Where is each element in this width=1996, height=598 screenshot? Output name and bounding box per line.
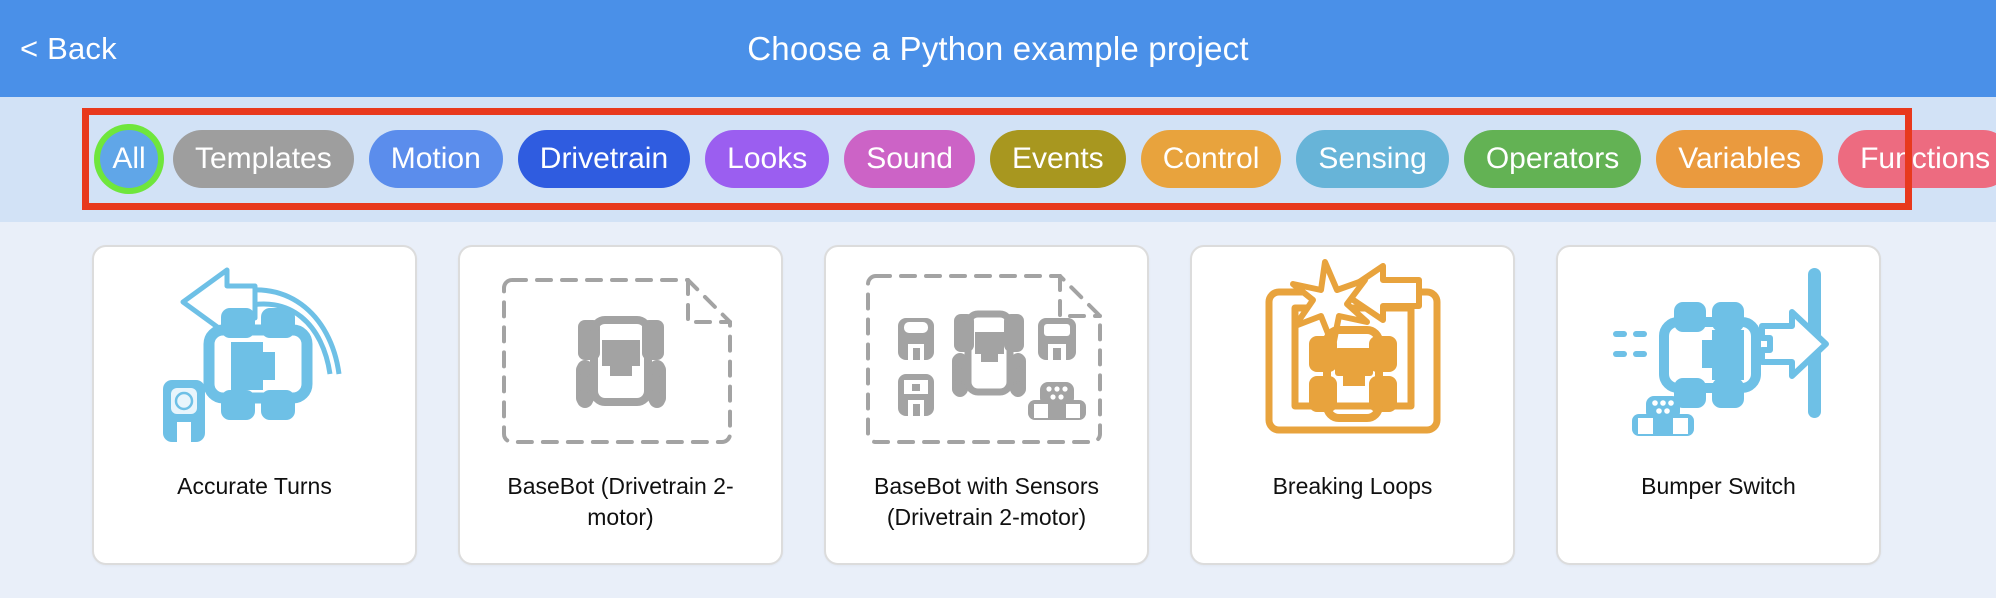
project-card-title: Breaking Loops bbox=[1255, 465, 1451, 563]
breaking-loops-icon bbox=[1192, 247, 1513, 465]
category-chip-label: Sound bbox=[866, 142, 953, 176]
page-title: Choose a Python example project bbox=[0, 30, 1996, 68]
category-chip-variables[interactable]: Variables bbox=[1656, 130, 1823, 188]
category-chip-label: Drivetrain bbox=[540, 142, 668, 176]
accurate-turns-icon bbox=[94, 247, 415, 465]
category-chip-sensing[interactable]: Sensing bbox=[1296, 130, 1448, 188]
category-chip-events[interactable]: Events bbox=[990, 130, 1126, 188]
category-chip-all[interactable]: All bbox=[100, 130, 158, 188]
category-chip-motion[interactable]: Motion bbox=[369, 130, 503, 188]
category-chip-label: Functions bbox=[1860, 142, 1990, 176]
category-chip-templates[interactable]: Templates bbox=[173, 130, 354, 188]
category-chip-control[interactable]: Control bbox=[1141, 130, 1282, 188]
project-card-list: Accurate Turns bbox=[92, 245, 1881, 565]
project-card-title: Bumper Switch bbox=[1623, 465, 1814, 563]
category-chip-label: All bbox=[112, 142, 145, 176]
back-button[interactable]: < Back bbox=[20, 31, 117, 67]
category-chip-functions[interactable]: Functions bbox=[1838, 130, 1996, 188]
basebot-with-sensors-template-icon bbox=[826, 247, 1147, 465]
category-chip-label: Operators bbox=[1486, 142, 1619, 176]
category-chip-label: Variables bbox=[1678, 142, 1801, 176]
project-card-title: BaseBot with Sensors (Drivetrain 2-motor… bbox=[826, 465, 1147, 563]
bumper-switch-icon bbox=[1558, 247, 1879, 465]
category-chip-drivetrain[interactable]: Drivetrain bbox=[518, 130, 690, 188]
project-card-accurate-turns[interactable]: Accurate Turns bbox=[92, 245, 417, 565]
category-chip-looks[interactable]: Looks bbox=[705, 130, 829, 188]
project-card-title: BaseBot (Drivetrain 2-motor) bbox=[460, 465, 781, 563]
category-chip-label: Templates bbox=[195, 142, 332, 176]
project-grid: Accurate Turns bbox=[0, 222, 1996, 598]
category-chip-list: All Templates Motion Drivetrain Looks So… bbox=[100, 125, 1996, 193]
category-chip-label: Control bbox=[1163, 142, 1260, 176]
category-chip-operators[interactable]: Operators bbox=[1464, 130, 1641, 188]
category-chip-sound[interactable]: Sound bbox=[844, 130, 975, 188]
category-chip-label: Sensing bbox=[1318, 142, 1426, 176]
project-card-title: Accurate Turns bbox=[159, 465, 350, 563]
category-chip-label: Looks bbox=[727, 142, 807, 176]
category-filter-bar: All Templates Motion Drivetrain Looks So… bbox=[0, 97, 1996, 222]
project-card-basebot[interactable]: BaseBot (Drivetrain 2-motor) bbox=[458, 245, 783, 565]
app-header: < Back Choose a Python example project bbox=[0, 0, 1996, 97]
basebot-template-icon bbox=[460, 247, 781, 465]
category-chip-label: Events bbox=[1012, 142, 1104, 176]
project-card-basebot-with-sensors[interactable]: BaseBot with Sensors (Drivetrain 2-motor… bbox=[824, 245, 1149, 565]
category-chip-label: Motion bbox=[391, 142, 481, 176]
project-card-bumper-switch[interactable]: Bumper Switch bbox=[1556, 245, 1881, 565]
project-card-breaking-loops[interactable]: Breaking Loops bbox=[1190, 245, 1515, 565]
